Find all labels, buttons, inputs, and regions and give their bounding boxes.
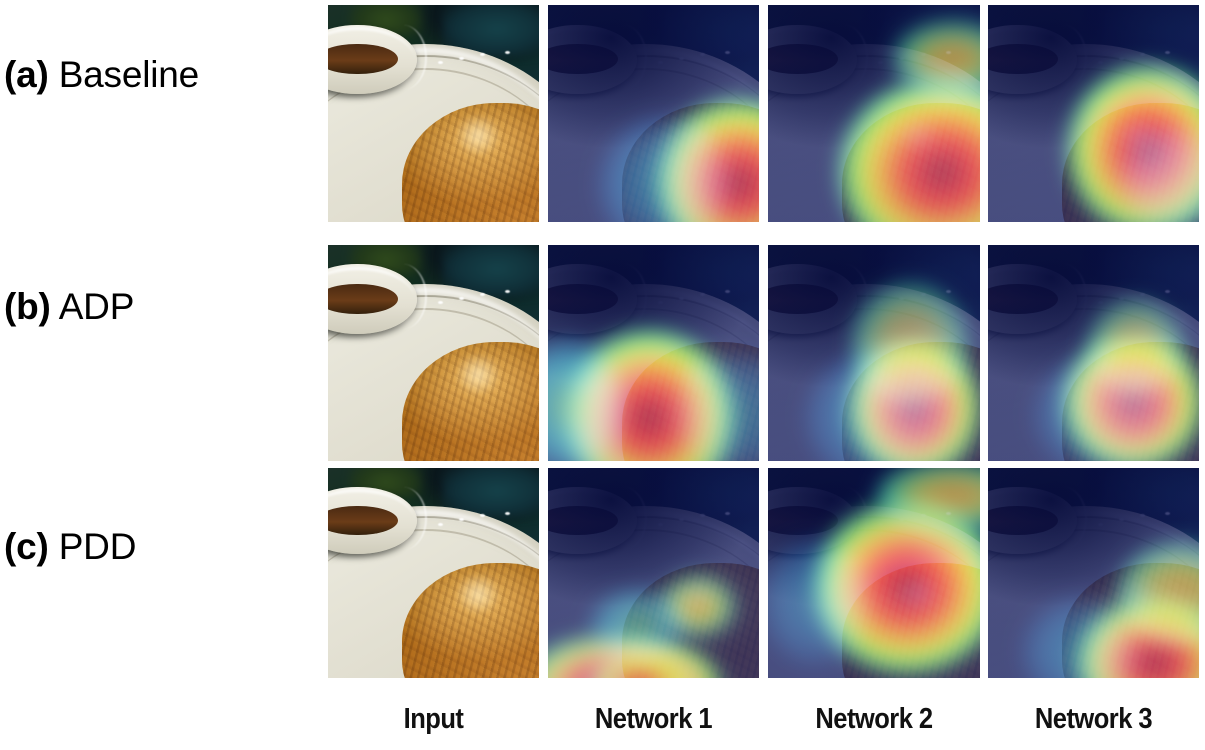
row-name: Baseline xyxy=(49,54,199,95)
panel-adp-network2 xyxy=(768,245,980,461)
panel-pdd-network3 xyxy=(988,468,1199,678)
panel-image xyxy=(988,245,1199,461)
panel-baseline-network3 xyxy=(988,5,1199,222)
panel-image xyxy=(548,245,759,461)
panel-adp-network3 xyxy=(988,245,1199,461)
panel-image xyxy=(548,468,759,678)
panel-adp-network1 xyxy=(548,245,759,461)
input-photo xyxy=(328,245,539,461)
column-header-network1: Network 1 xyxy=(561,702,747,736)
panel-adp-input xyxy=(328,245,539,461)
figure-container: (a) Baseline (b) ADP (c) PDD xyxy=(0,0,1205,750)
panel-image xyxy=(768,468,980,678)
panel-image xyxy=(768,245,980,461)
panel-pdd-network1 xyxy=(548,468,759,678)
panel-image xyxy=(988,468,1199,678)
panel-image xyxy=(328,468,539,678)
panel-baseline-network1 xyxy=(548,5,759,222)
column-header-network3: Network 3 xyxy=(1001,702,1187,736)
panel-image xyxy=(768,5,980,222)
column-header-input: Input xyxy=(341,702,527,736)
row-name: PDD xyxy=(49,526,137,567)
input-photo xyxy=(328,5,539,222)
panel-baseline-network2 xyxy=(768,5,980,222)
panel-image xyxy=(548,5,759,222)
input-photo xyxy=(328,468,539,678)
row-tag: (b) xyxy=(4,286,51,327)
row-tag: (a) xyxy=(4,54,49,95)
panel-pdd-network2 xyxy=(768,468,980,678)
row-name: ADP xyxy=(51,286,135,327)
column-header-network2: Network 2 xyxy=(781,702,968,736)
row-label-pdd: (c) PDD xyxy=(4,527,314,567)
row-label-adp: (b) ADP xyxy=(4,287,314,327)
panel-image xyxy=(328,5,539,222)
panel-image xyxy=(328,245,539,461)
row-label-baseline: (a) Baseline xyxy=(4,55,314,95)
panel-baseline-input xyxy=(328,5,539,222)
row-tag: (c) xyxy=(4,526,49,567)
panel-image xyxy=(988,5,1199,222)
panel-pdd-input xyxy=(328,468,539,678)
